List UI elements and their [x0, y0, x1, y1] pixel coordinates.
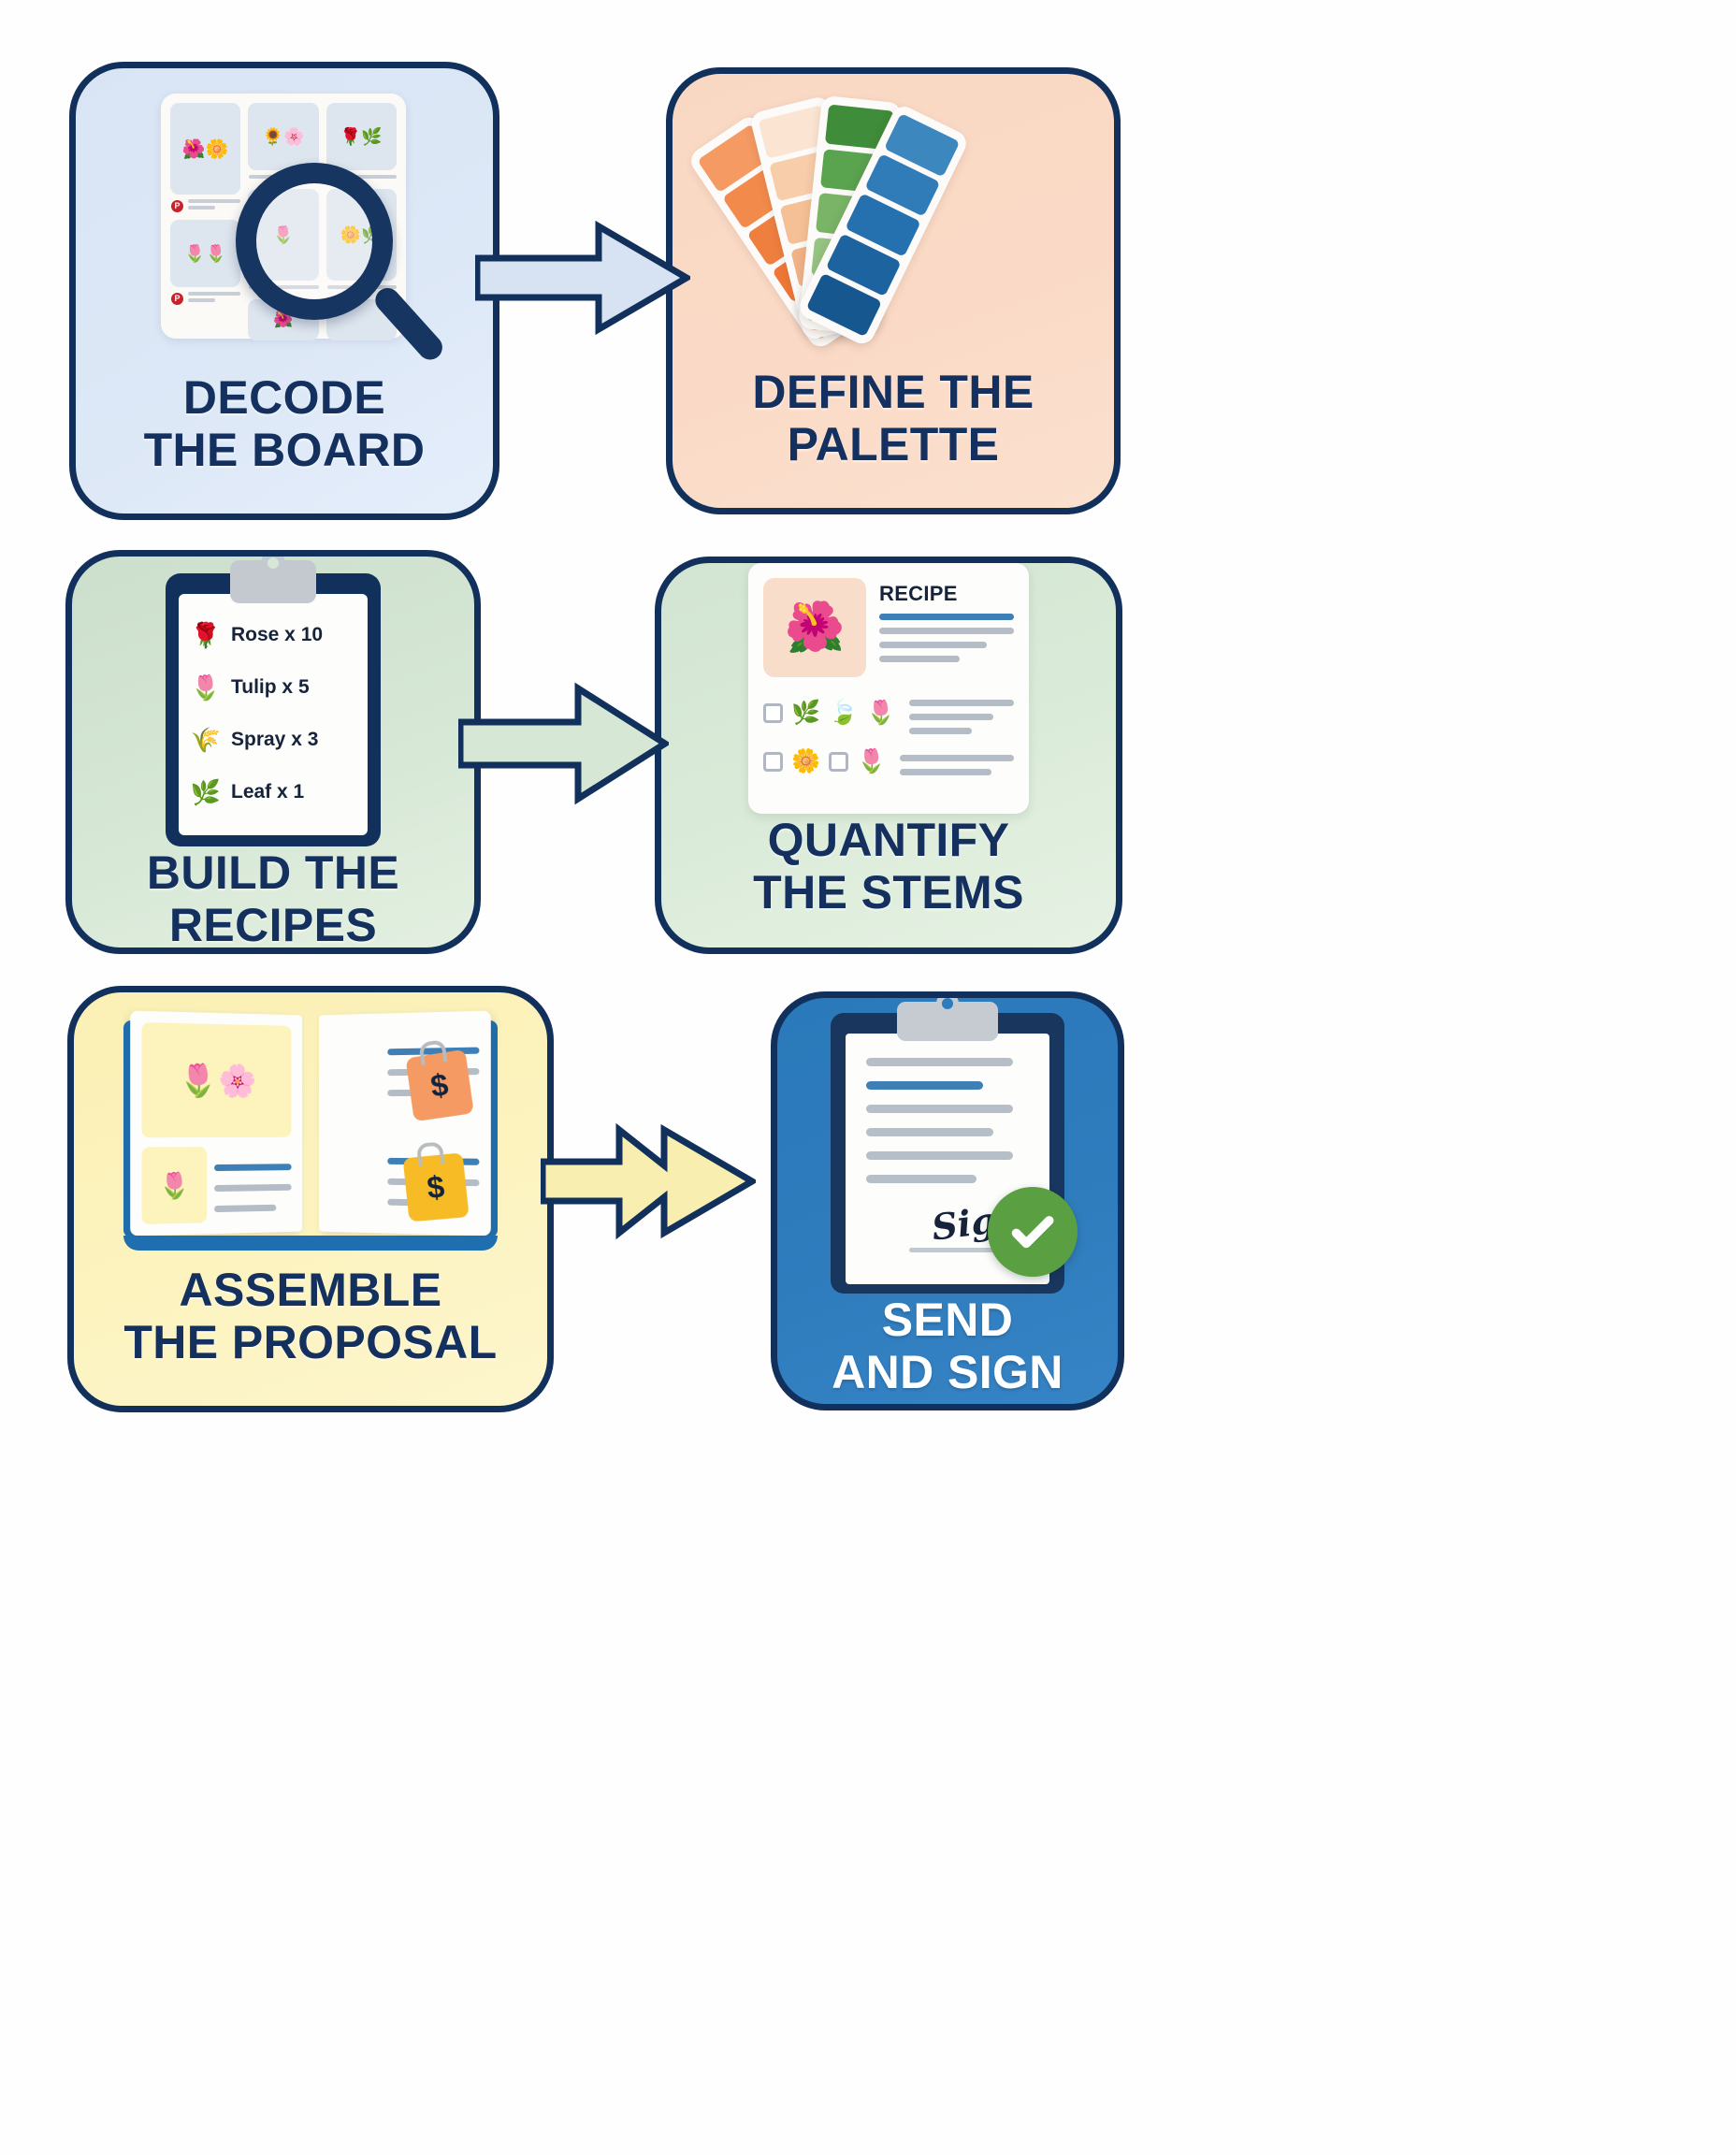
- assemble-the-proposal-art: 🌷🌸 🌷: [74, 992, 547, 1264]
- book-page-left: 🌷🌸 🌷: [130, 1010, 302, 1236]
- price-tag-orange-icon: $: [406, 1049, 474, 1121]
- clipboard-ring: [936, 992, 959, 1015]
- text-line: [214, 1184, 291, 1192]
- flower-photo-block-small: 🌷: [142, 1147, 208, 1224]
- text-line: [214, 1164, 291, 1171]
- arrow-assemble-to-send: [541, 1121, 756, 1242]
- check-circle-icon: [988, 1187, 1078, 1277]
- title-line-2: RECIPES: [85, 899, 461, 951]
- pinterest-icon: P: [171, 200, 183, 212]
- title-line-1: QUANTIFY: [674, 814, 1103, 866]
- pin-thumbnail: 🌹🌿: [326, 103, 397, 170]
- flower-thumbnail-icon: 🌺: [763, 578, 866, 677]
- pin-thumbnail: 🌻🌸: [248, 103, 318, 170]
- row-text-lines: [900, 747, 1014, 775]
- send-and-sign-art: Sign: [777, 998, 1118, 1294]
- text-line: [909, 728, 972, 734]
- signed-contract-icon: Sign: [831, 1013, 1064, 1294]
- checklist-row: 🌷 Tulip x 5: [190, 661, 360, 714]
- checklist-label: Spray x 3: [231, 729, 318, 751]
- checklist-label: Rose x 10: [231, 624, 323, 646]
- checklist-row: 🌾 Spray x 3: [190, 714, 360, 766]
- step-card-quantify-the-stems[interactable]: 🌺 RECIPE 🌿 🍃 🌷: [655, 557, 1122, 954]
- leaf-icon: 🌿: [190, 780, 222, 804]
- open-book-icon: 🌷🌸 🌷: [123, 1002, 498, 1254]
- title-line-2: PALETTE: [686, 418, 1101, 470]
- pin-thumbnail: 🌷🌷: [170, 220, 240, 287]
- step-title-assemble-the-proposal: ASSEMBLE THE PROPOSAL: [74, 1264, 547, 1406]
- step-card-send-and-sign[interactable]: Sign SEND AND SIGN: [771, 991, 1124, 1410]
- quantify-the-stems-art: 🌺 RECIPE 🌿 🍃 🌷: [661, 563, 1116, 814]
- pin-line: [188, 298, 215, 302]
- pinterest-icon: P: [171, 293, 183, 305]
- tulip-icon: 🌷: [866, 701, 895, 725]
- recipe-sheet-icon: 🌺 RECIPE 🌿 🍃 🌷: [748, 563, 1029, 814]
- recipe-checklist: 🌿 🍃 🌷 🌼 🌷: [763, 692, 1014, 775]
- step-card-build-the-recipes[interactable]: 🌹 Rose x 10 🌷 Tulip x 5 🌾 Spray x 3 🌿 Le…: [65, 550, 481, 954]
- title-line-2: THE PROPOSAL: [87, 1316, 534, 1368]
- title-line-1: DECODE: [89, 371, 480, 424]
- checklist-row: 🌹 Rose x 10: [190, 609, 360, 661]
- checklist-row: 🌿 Leaf x 1: [190, 766, 360, 818]
- page-bottom: 🌷: [142, 1147, 292, 1224]
- recipe-title: RECIPE: [879, 582, 1014, 606]
- step-title-build-the-recipes: BUILD THE RECIPES: [72, 846, 474, 954]
- tulip-icon: 🌷: [190, 675, 222, 700]
- row-text-lines: [909, 692, 1014, 734]
- decode-the-board-art: 🌺🌼 P 🌷🌷 P: [76, 68, 493, 371]
- step-title-quantify-the-stems: QUANTIFY THE STEMS: [661, 814, 1116, 954]
- text-line: [879, 642, 987, 648]
- title-line-2: AND SIGN: [790, 1346, 1105, 1398]
- pin-meta: P: [171, 292, 240, 305]
- build-the-recipes-art: 🌹 Rose x 10 🌷 Tulip x 5 🌾 Spray x 3 🌿 Le…: [72, 557, 474, 846]
- step-title-decode-the-board: DECODE THE BOARD: [76, 371, 493, 513]
- clipboard-ring: [261, 551, 285, 575]
- palette-fan-icon: [697, 80, 1090, 360]
- text-line: [866, 1151, 1013, 1160]
- define-the-palette-art: [673, 74, 1114, 366]
- pin-caption-lines: [188, 292, 240, 305]
- sprig-icon: 🌿: [791, 701, 820, 725]
- clipboard-checklist-icon: 🌹 Rose x 10 🌷 Tulip x 5 🌾 Spray x 3 🌿 Le…: [166, 573, 381, 846]
- text-line-accent: [866, 1081, 983, 1090]
- checkbox-icon[interactable]: [763, 752, 783, 772]
- spray-flower-icon: 🌾: [190, 728, 222, 752]
- text-line: [866, 1175, 976, 1183]
- title-line-1: ASSEMBLE: [87, 1264, 534, 1316]
- pin-line: [188, 199, 240, 203]
- book-base: [123, 1236, 498, 1251]
- text-line: [900, 755, 1014, 761]
- text-line: [879, 628, 1014, 634]
- step-title-define-the-palette: DEFINE THE PALETTE: [673, 366, 1114, 508]
- price-tag-yellow-icon: $: [403, 1152, 470, 1222]
- book-page-right: $ $: [319, 1010, 491, 1236]
- title-line-2: THE STEMS: [674, 866, 1103, 918]
- page-text-lines: [214, 1147, 291, 1222]
- title-line-2: THE BOARD: [89, 424, 480, 476]
- arrow-decode-to-define: [475, 217, 690, 339]
- recipe-head-text: RECIPE: [879, 578, 1014, 677]
- text-line: [866, 1058, 1013, 1066]
- flower-photo-block: 🌷🌸: [142, 1022, 292, 1137]
- text-line: [214, 1205, 276, 1212]
- step-card-define-the-palette[interactable]: DEFINE THE PALETTE: [666, 67, 1121, 514]
- text-line: [909, 714, 992, 720]
- page-content: 🌷🌸 🌷: [130, 1010, 302, 1236]
- title-line-1: BUILD THE: [85, 846, 461, 899]
- tulip-icon: 🌷: [857, 750, 886, 774]
- step-card-assemble-the-proposal[interactable]: 🌷🌸 🌷: [67, 986, 554, 1412]
- recipe-header: 🌺 RECIPE: [763, 578, 1014, 677]
- text-line: [866, 1105, 1013, 1113]
- pin-line: [188, 292, 240, 296]
- step-title-send-and-sign: SEND AND SIGN: [777, 1294, 1118, 1410]
- title-line-1: SEND: [790, 1294, 1105, 1346]
- text-line: [866, 1128, 993, 1136]
- checklist-label: Tulip x 5: [231, 676, 310, 699]
- pin-line: [188, 206, 215, 210]
- pin-meta: P: [171, 199, 240, 212]
- rose-icon: 🌹: [190, 623, 222, 647]
- checklist-label: Leaf x 1: [231, 781, 304, 803]
- leaf-icon: 🍃: [829, 701, 858, 725]
- clipboard-paper: 🌹 Rose x 10 🌷 Tulip x 5 🌾 Spray x 3 🌿 Le…: [179, 594, 368, 835]
- checkbox-icon[interactable]: [763, 703, 783, 723]
- text-line: [900, 769, 991, 775]
- accent-rule: [879, 614, 1014, 620]
- text-line: [879, 656, 960, 662]
- pin-thumbnail: 🌺🌼: [170, 103, 240, 195]
- arrow-build-to-quantify: [458, 679, 669, 808]
- text-line: [909, 700, 1014, 706]
- step-card-decode-the-board[interactable]: 🌺🌼 P 🌷🌷 P: [69, 62, 499, 520]
- magnifier-icon: [236, 163, 393, 320]
- checkbox-icon[interactable]: [829, 752, 848, 772]
- infographic-board: 🌺🌼 P 🌷🌷 P: [0, 0, 1736, 2155]
- blossom-icon: 🌼: [791, 750, 820, 774]
- title-line-1: DEFINE THE: [686, 366, 1101, 418]
- pin-caption-lines: [188, 199, 240, 212]
- recipe-row: 🌼 🌷: [763, 747, 1014, 775]
- recipe-row: 🌿 🍃 🌷: [763, 692, 1014, 734]
